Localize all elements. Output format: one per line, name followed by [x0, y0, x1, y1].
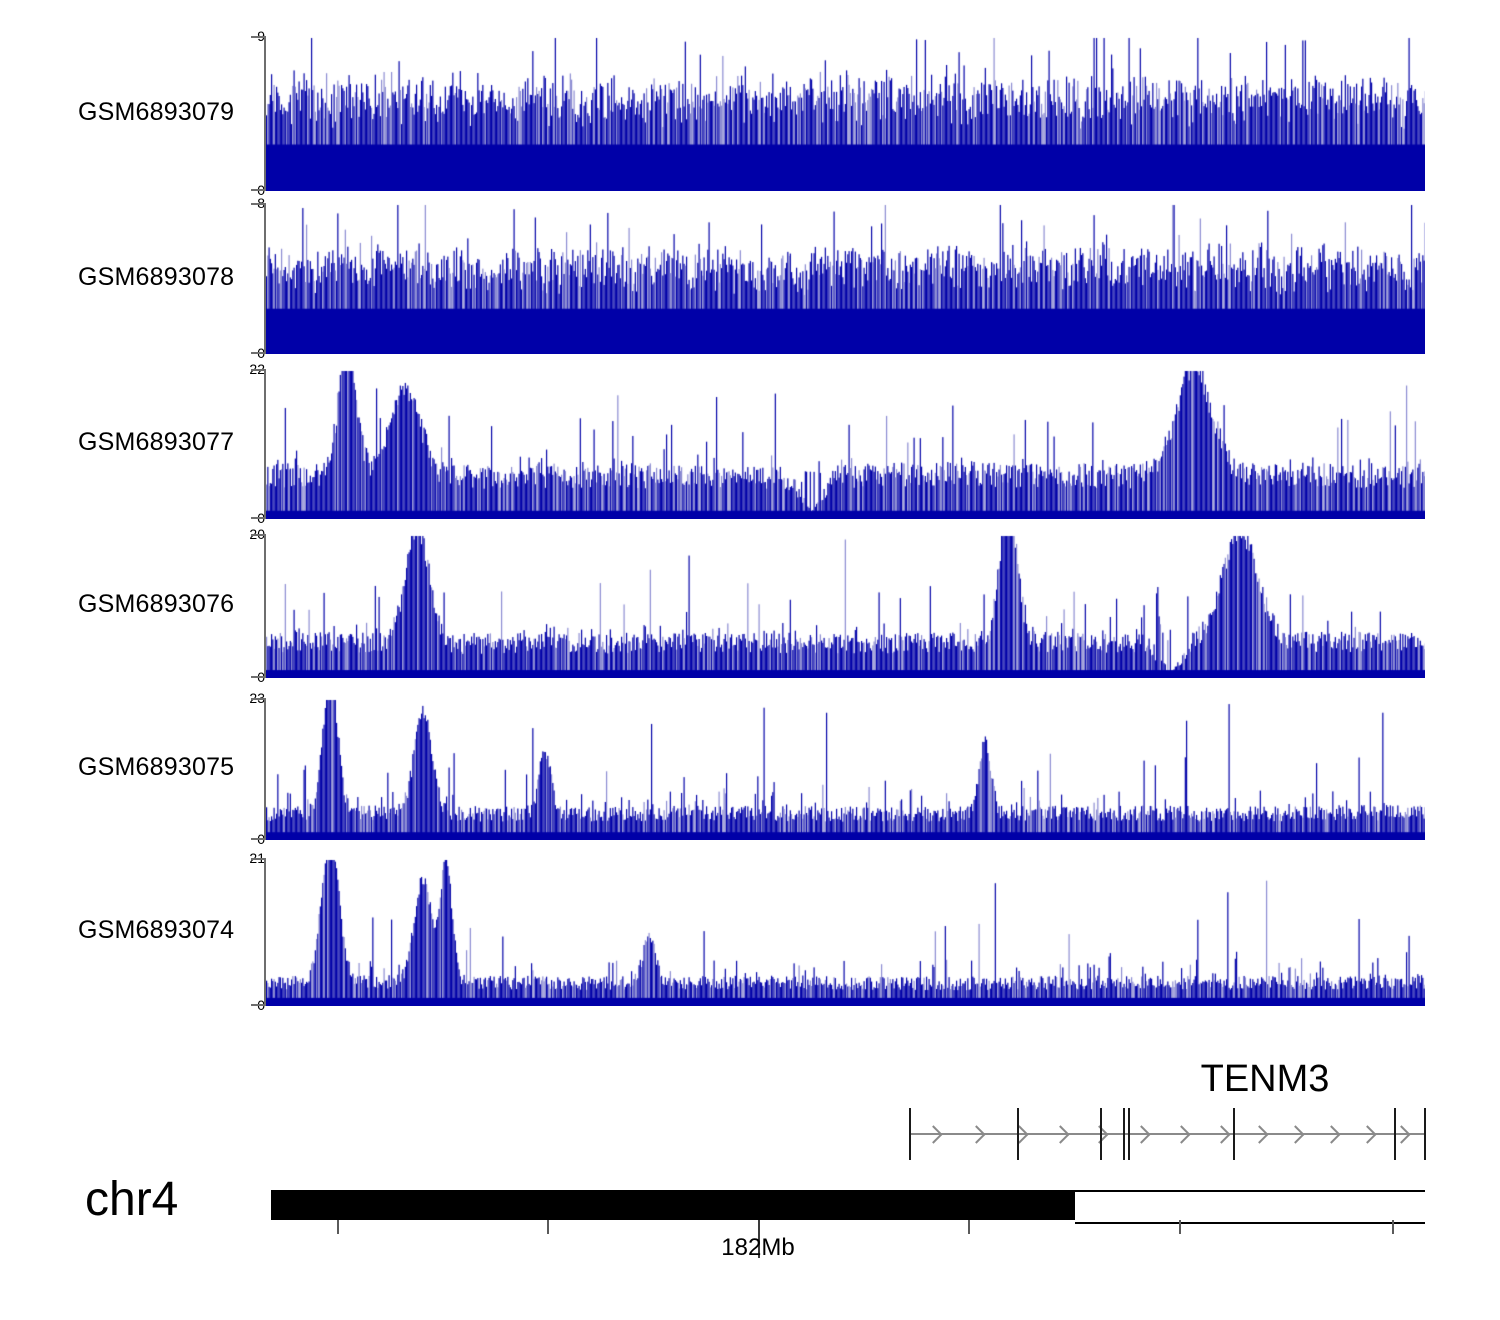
- coverage-track-gsm6893075[interactable]: GSM6893075230: [0, 698, 1500, 840]
- ideogram-tick: [547, 1220, 549, 1234]
- coverage-plot-gsm6893074[interactable]: [266, 858, 1425, 1006]
- gene-strand-arrow-icon: [1358, 1125, 1376, 1143]
- track-label-gsm6893076: GSM6893076: [78, 590, 234, 619]
- coverage-track-gsm6893074[interactable]: GSM6893074210: [0, 858, 1500, 1006]
- y-axis-tick-max: [251, 534, 266, 536]
- y-axis-tick-min: [251, 517, 266, 519]
- coverage-track-gsm6893078[interactable]: GSM689307880: [0, 203, 1500, 354]
- y-axis-tick-max: [251, 698, 266, 700]
- coverage-plot-gsm6893078[interactable]: [266, 203, 1425, 354]
- y-axis-tick-min: [251, 838, 266, 840]
- chromosome-ideogram-track: chr4 182Mb: [0, 1180, 1500, 1300]
- gene-strand-arrow-icon: [1010, 1125, 1028, 1143]
- coverage-plot-gsm6893075[interactable]: [266, 698, 1425, 840]
- gene-strand-arrow-icon: [924, 1125, 942, 1143]
- coverage-plot-gsm6893076[interactable]: [266, 534, 1425, 678]
- gene-exon-mark[interactable]: [1394, 1108, 1396, 1160]
- gene-exon-mark[interactable]: [1233, 1108, 1235, 1160]
- gene-exon-mark[interactable]: [909, 1108, 911, 1160]
- coverage-track-gsm6893077[interactable]: GSM6893077220: [0, 369, 1500, 519]
- gene-exon-mark[interactable]: [1017, 1108, 1019, 1160]
- coverage-plot-gsm6893079[interactable]: [266, 36, 1425, 191]
- y-axis-tick-max: [251, 369, 266, 371]
- y-axis-tick-max: [251, 858, 266, 860]
- gene-strand-arrow-icon: [1132, 1125, 1150, 1143]
- track-label-gsm6893078: GSM6893078: [78, 263, 234, 292]
- gene-strand-arrow-icon: [1286, 1125, 1304, 1143]
- gene-strand-arrow-icon: [1172, 1125, 1190, 1143]
- gene-strand-arrow-icon: [1322, 1125, 1340, 1143]
- track-label-gsm6893077: GSM6893077: [78, 428, 234, 457]
- gene-intron-line: [909, 1133, 1425, 1135]
- ideogram-clear-band[interactable]: [1075, 1190, 1425, 1224]
- y-axis-tick-max: [251, 36, 266, 38]
- gene-exon-mark[interactable]: [1424, 1108, 1426, 1160]
- chromosome-label: chr4: [85, 1172, 178, 1227]
- genome-browser-figure: GSM689307990GSM689307880GSM6893077220GSM…: [0, 0, 1500, 1320]
- ideogram-tick-label: 182Mb: [721, 1234, 794, 1262]
- gene-label-tenm3: TENM3: [1201, 1058, 1330, 1101]
- track-label-gsm6893074: GSM6893074: [78, 916, 234, 945]
- coverage-track-gsm6893076[interactable]: GSM6893076200: [0, 534, 1500, 678]
- ideogram-stained-band[interactable]: [271, 1190, 1075, 1220]
- gene-strand-arrow-icon: [1212, 1125, 1230, 1143]
- gene-strand-arrow-icon: [1051, 1125, 1069, 1143]
- ideogram-tick: [1179, 1220, 1181, 1234]
- y-axis-tick-min: [251, 1004, 266, 1006]
- y-axis-tick-min: [251, 676, 266, 678]
- ideogram-tick: [968, 1220, 970, 1234]
- gene-annotation-track: TENM3: [0, 1048, 1500, 1188]
- gene-exon-mark[interactable]: [1123, 1108, 1125, 1160]
- y-axis-tick-min: [251, 189, 266, 191]
- gene-strand-arrow-icon: [967, 1125, 985, 1143]
- y-axis-tick-max: [251, 203, 266, 205]
- coverage-track-gsm6893079[interactable]: GSM689307990: [0, 36, 1500, 191]
- gene-strand-arrow-icon: [1250, 1125, 1268, 1143]
- ideogram-tick: [1392, 1220, 1394, 1234]
- gene-exon-mark[interactable]: [1100, 1108, 1102, 1160]
- gene-exon-mark[interactable]: [1128, 1108, 1130, 1160]
- coverage-plot-gsm6893077[interactable]: [266, 369, 1425, 519]
- track-label-gsm6893079: GSM6893079: [78, 98, 234, 127]
- track-label-gsm6893075: GSM6893075: [78, 753, 234, 782]
- ideogram-tick: [337, 1220, 339, 1234]
- y-axis-tick-min: [251, 352, 266, 354]
